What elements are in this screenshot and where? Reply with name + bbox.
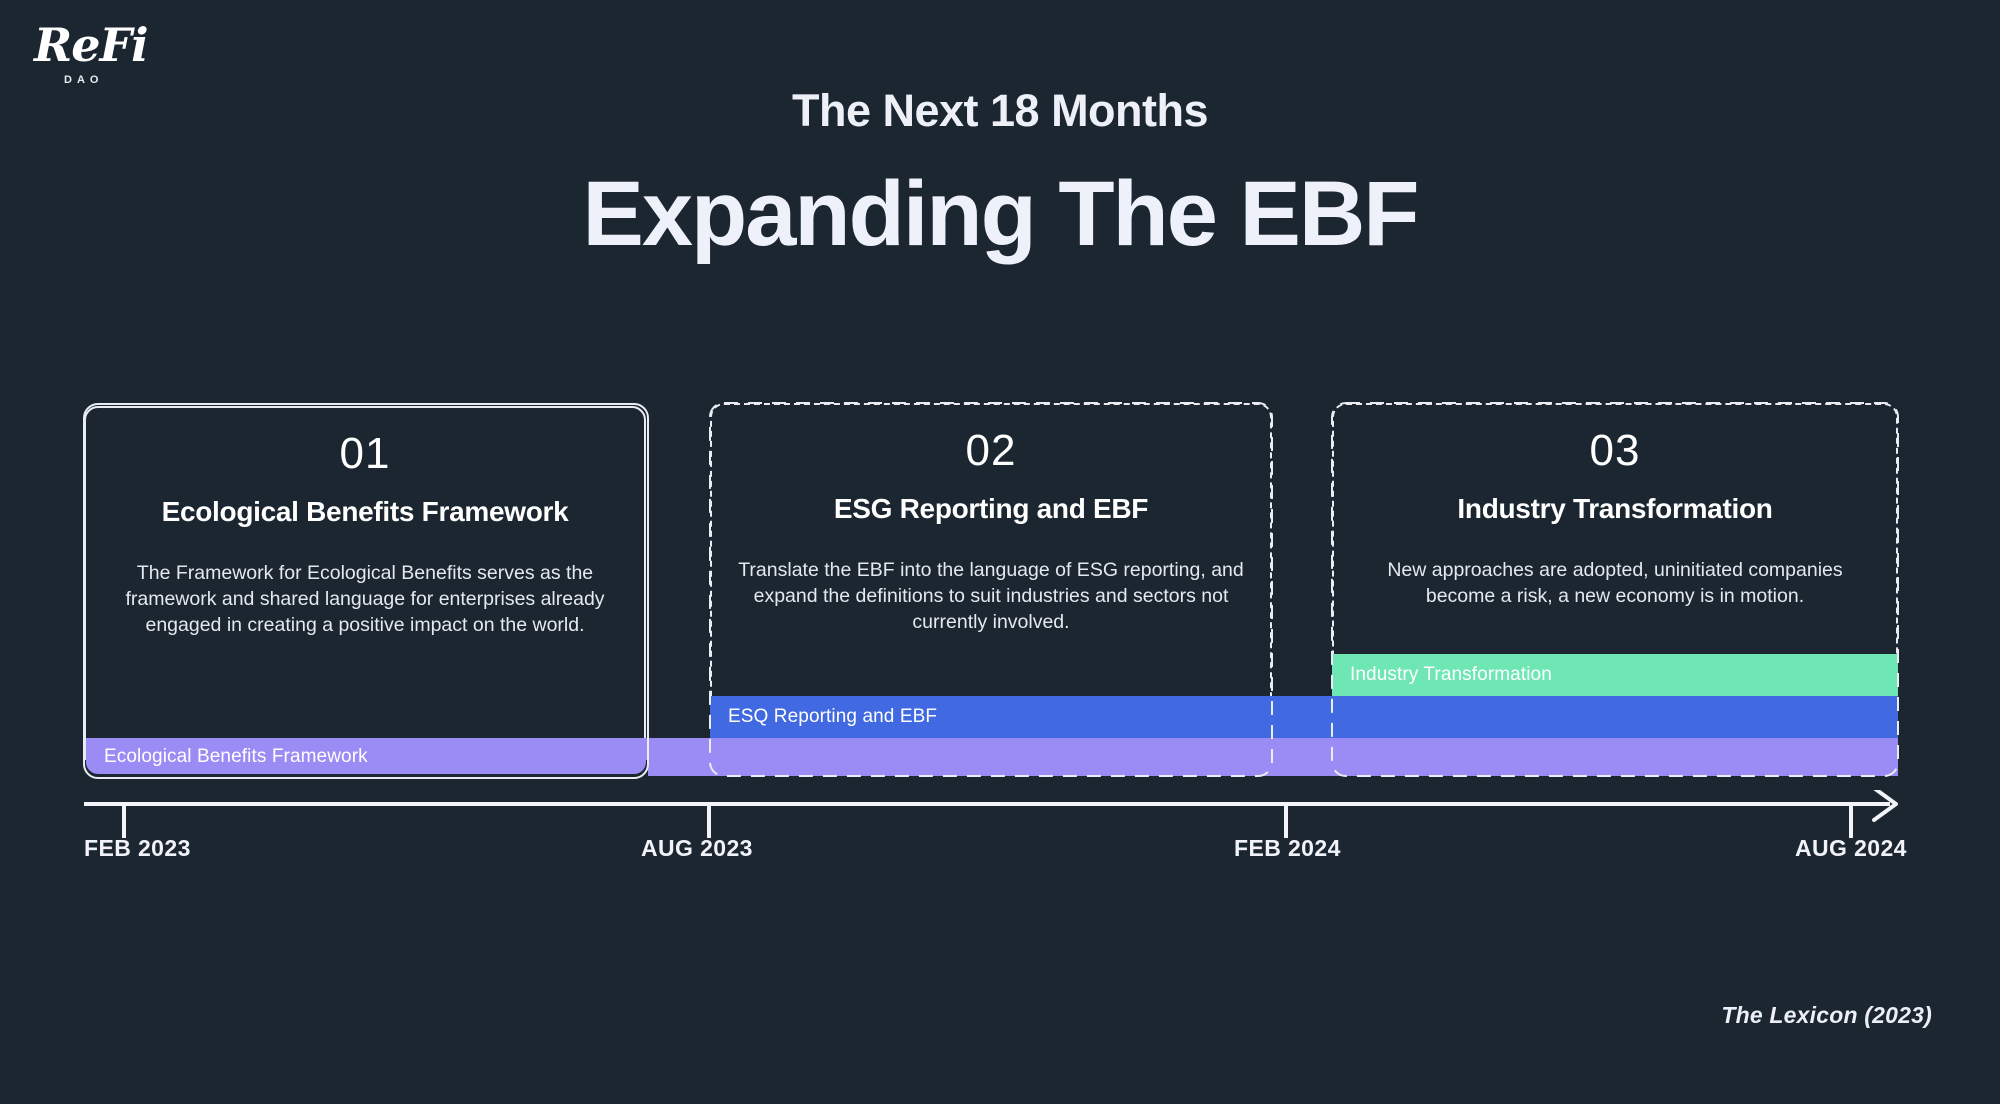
gantt-bar-industry-transformation: Industry Transformation (1332, 654, 1898, 696)
phase-description: New approaches are adopted, uninitiated … (1334, 558, 1896, 609)
phase-card-01: 01 Ecological Benefits Framework The Fra… (84, 406, 646, 776)
gantt-bar-ecological-benefits-framework: Ecological Benefits Framework (86, 738, 1898, 776)
phase-number: 01 (86, 430, 644, 478)
timeline-axis (0, 790, 2000, 920)
timeline-label-4: AUG 2024 (1795, 835, 1907, 862)
gantt-bar-label: Ecological Benefits Framework (104, 746, 368, 768)
eyebrow-heading: The Next 18 Months (0, 85, 2000, 137)
timeline-label-1: FEB 2023 (84, 835, 191, 862)
phase-number: 03 (1334, 427, 1896, 475)
timeline-label-2: AUG 2023 (641, 835, 753, 862)
phase-title: ESG Reporting and EBF (712, 493, 1270, 525)
page-title: Expanding The EBF (0, 165, 2000, 264)
gantt-bar-esg-reporting: ESQ Reporting and EBF (710, 696, 1898, 738)
brand-logo-wordmark: ReFi (34, 22, 184, 68)
phase-description: Translate the EBF into the language of E… (712, 558, 1270, 635)
phase-title: Ecological Benefits Framework (86, 496, 644, 528)
timeline-label-3: FEB 2024 (1234, 835, 1341, 862)
gantt-bar-label: ESQ Reporting and EBF (728, 706, 937, 728)
gantt-bar-label: Industry Transformation (1350, 664, 1552, 686)
source-attribution: The Lexicon (2023) (1721, 1002, 1932, 1029)
phase-number: 02 (712, 427, 1270, 475)
phase-title: Industry Transformation (1334, 493, 1896, 525)
phase-description: The Framework for Ecological Benefits se… (86, 561, 644, 638)
